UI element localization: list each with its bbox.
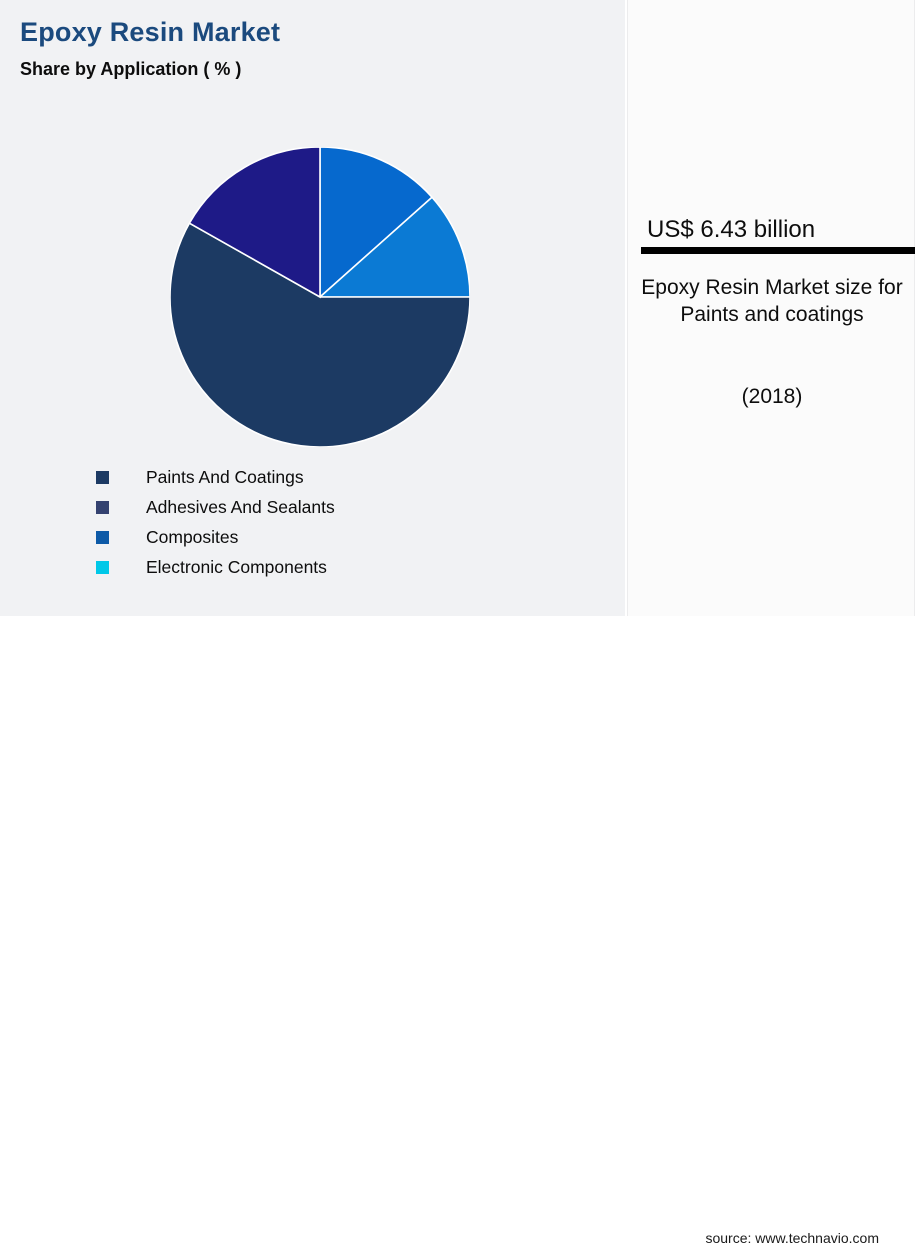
pie-chart: [170, 147, 470, 447]
legend-swatch-icon: [96, 501, 109, 514]
stat-value: US$ 6.43 billion: [647, 216, 815, 244]
stat-description: Epoxy Resin Market size for Paints and c…: [638, 274, 906, 328]
legend-item-composites[interactable]: Composites: [96, 522, 556, 552]
legend-label: Composites: [146, 527, 238, 548]
legend-label: Paints And Coatings: [146, 467, 304, 488]
legend-item-adhesives-and-sealants[interactable]: Adhesives And Sealants: [96, 492, 556, 522]
source-note: source: www.technavio.com: [705, 1230, 879, 1246]
page-title: Epoxy Resin Market: [20, 17, 280, 48]
legend-item-paints-and-coatings[interactable]: Paints And Coatings: [96, 462, 556, 492]
legend-swatch-icon: [96, 471, 109, 484]
callout-panel: US$ 6.43 billion Epoxy Resin Market size…: [627, 0, 915, 616]
legend-label: Electronic Components: [146, 557, 327, 578]
legend: Paints And Coatings Adhesives And Sealan…: [96, 462, 556, 582]
chart-subtitle: Share by Application ( % ): [20, 59, 241, 80]
chart-panel: Epoxy Resin Market Share by Application …: [0, 0, 625, 616]
footer-strip: source: www.technavio.com: [0, 616, 915, 648]
pie-chart-svg: [170, 147, 470, 447]
legend-label: Adhesives And Sealants: [146, 497, 335, 518]
pie-slices: [170, 147, 470, 447]
legend-swatch-icon: [96, 561, 109, 574]
stat-divider: [641, 247, 915, 254]
stat-year: (2018): [638, 383, 906, 410]
legend-item-electronic-components[interactable]: Electronic Components: [96, 552, 556, 582]
legend-swatch-icon: [96, 531, 109, 544]
infographic-root: Epoxy Resin Market Share by Application …: [0, 0, 915, 648]
